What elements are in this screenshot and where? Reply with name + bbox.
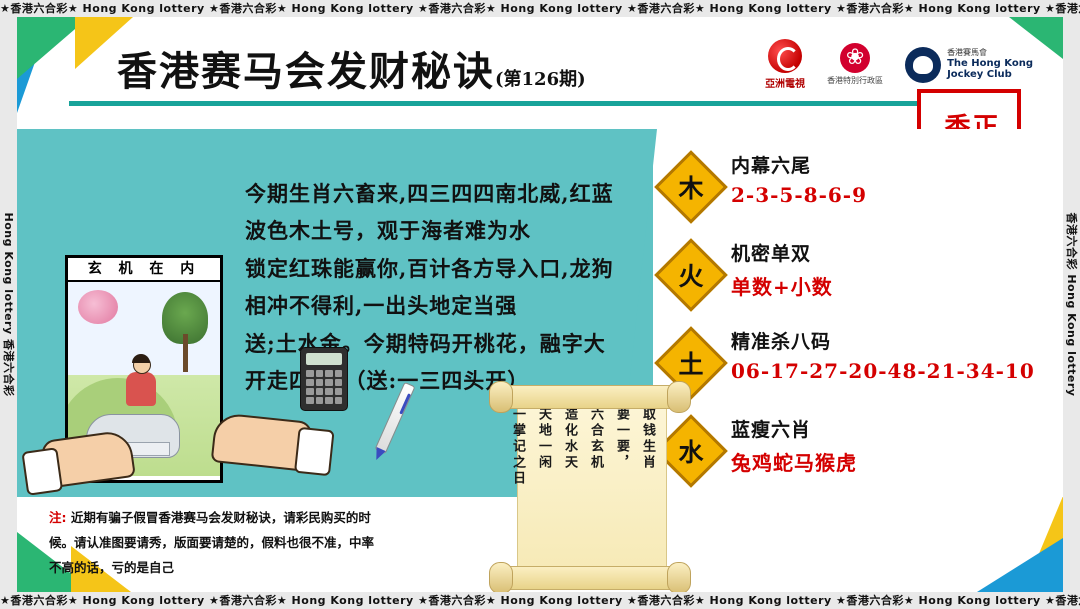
page-title: 香港赛马会发财秘诀(第126期)	[117, 39, 586, 97]
bauhinia-icon	[840, 43, 870, 73]
scroll-knob-bottom-right	[667, 562, 691, 592]
prediction-title-3: 精准杀八码	[731, 327, 831, 354]
poster-page: ★香港六合彩★ Hong Kong lottery ★香港六合彩★ Hong K…	[0, 0, 1080, 609]
element-badge-wood: 木	[654, 150, 728, 224]
prediction-item-3: 土 精准杀八码 06-17-27-20-48-21-34-10	[665, 321, 1063, 409]
art-blossom-tree-icon	[78, 290, 118, 324]
issue-number: (第126期)	[495, 69, 586, 90]
marquee-top: ★香港六合彩★ Hong Kong lottery ★香港六合彩★ Hong K…	[0, 0, 1080, 17]
element-badge-fire: 火	[654, 238, 728, 312]
decor-triangle-blue-bottomright	[977, 538, 1063, 592]
prediction-value-4: 兔鸡蛇马猴虎	[731, 447, 857, 476]
disclaimer-note: 注: 近期有骗子假冒香港赛马会发财秘诀，请彩民购买的时 候。请认准图要请秀，版面…	[49, 505, 479, 580]
disclaimer-line-3: 不高的话，亏的是自己	[49, 555, 479, 580]
prediction-item-4: 水 蓝瘦六肖 兔鸡蛇马猴虎	[665, 409, 1063, 497]
prediction-value-1: 2-3-5-8-6-9	[731, 183, 867, 207]
prediction-value-2: 单数+小数	[731, 271, 833, 300]
poster-header: 香港赛马会发财秘诀(第126期) 亞洲電視 香港特別行政區 香港賽馬會 The …	[17, 17, 1063, 109]
scroll-col-3: 六合玄机	[586, 407, 605, 571]
prediction-title-2: 机密单双	[731, 239, 811, 266]
disclaimer-label: 注:	[49, 510, 67, 525]
marquee-bottom: ★香港六合彩★ Hong Kong lottery ★香港六合彩★ Hong K…	[0, 592, 1080, 609]
scroll-col-2: 要一要，	[612, 407, 631, 571]
header-logos: 亞洲電視 香港特別行政區 香港賽馬會 The Hong Kong Jockey …	[765, 39, 1033, 90]
hk-logo-caption: 香港特別行政區	[827, 75, 883, 86]
jockey-club-horse-icon	[905, 47, 941, 83]
calculator-screen	[306, 353, 342, 365]
art-figure-body	[126, 372, 156, 406]
atv-logo-caption: 亞洲電視	[765, 75, 805, 90]
element-badge-earth-label: 土	[668, 340, 714, 386]
prediction-item-1: 木 内幕六尾 2-3-5-8-6-9	[665, 145, 1063, 233]
marquee-left-text: Hong Kong lottery 香港六合彩	[0, 17, 17, 592]
atv-logo: 亞洲電視	[765, 39, 805, 90]
verse-line-4: 相冲不得利,一出头地定当强	[245, 287, 665, 324]
marquee-bottom-text: ★香港六合彩★ Hong Kong lottery ★香港六合彩★ Hong K…	[0, 594, 1080, 607]
prediction-value-3: 06-17-27-20-48-21-34-10	[731, 359, 1035, 383]
prediction-item-2: 火 机密单双 单数+小数	[665, 233, 1063, 321]
verse-line-3: 锁定红珠能赢你,百计各方导入口,龙狗	[245, 250, 665, 287]
disclaimer-line-2: 候。请认准图要请秀，版面要请楚的，假料也很不准，中率	[49, 530, 479, 555]
cuff-left	[21, 447, 63, 496]
scroll-roller-bottom	[495, 566, 685, 590]
jockey-club-cn: 香港賽馬會	[947, 48, 1033, 57]
scroll-col-4: 造化水天	[560, 407, 579, 571]
scroll-col-1: 取钱生肖	[638, 407, 657, 571]
poster-canvas: 香港赛马会发财秘诀(第126期) 亞洲電視 香港特別行政區 香港賽馬會 The …	[17, 17, 1063, 592]
predictions-list: 木 内幕六尾 2-3-5-8-6-9 火 机密单双 单数+小数 土 精准杀八码 …	[665, 145, 1063, 497]
scroll-knob-top-right	[667, 381, 691, 413]
scroll-text: 取钱生肖 要一要， 六合玄机 造化水天 天地一闲 一掌记之日	[527, 407, 657, 571]
element-badge-fire-label: 火	[668, 252, 714, 298]
art-figure-icon	[124, 356, 158, 412]
atv-mark-icon	[768, 39, 802, 73]
disclaimer-line-1: 近期有骗子假冒香港赛马会发财秘诀，请彩民购买的时	[71, 510, 371, 525]
page-title-text: 香港赛马会发财秘诀	[117, 48, 495, 95]
marquee-right-text: 香港六合彩 Hong Kong lottery	[1063, 17, 1080, 592]
scroll-knob-bottom-left	[489, 562, 513, 592]
hk-bauhinia-logo: 香港特別行政區	[827, 43, 883, 86]
element-badge-wood-label: 木	[668, 164, 714, 210]
cuff-right	[294, 427, 335, 477]
jockey-club-logo: 香港賽馬會 The Hong Kong Jockey Club	[905, 47, 1033, 83]
verse-line-1: 今期生肖六畜来,四三四四南北威,红蓝	[245, 175, 665, 212]
prediction-title-4: 蓝瘦六肖	[731, 415, 811, 442]
illustration-caption: 玄 机 在 内	[68, 258, 220, 282]
prediction-title-1: 内幕六尾	[731, 151, 811, 178]
scroll-graphic: 取钱生肖 要一要， 六合玄机 造化水天 天地一闲 一掌记之日	[495, 385, 685, 590]
marquee-left: Hong Kong lottery 香港六合彩	[0, 17, 17, 592]
calculator-icon	[300, 347, 348, 411]
scroll-knob-top-left	[489, 381, 513, 413]
marquee-top-text: ★香港六合彩★ Hong Kong lottery ★香港六合彩★ Hong K…	[0, 2, 1080, 15]
marquee-right: 香港六合彩 Hong Kong lottery	[1063, 17, 1080, 592]
calculator-keys	[306, 370, 342, 404]
header-divider	[69, 101, 1015, 106]
hand-right-icon	[211, 412, 314, 472]
verse-line-2: 波色木土号，观于海者难为水	[245, 212, 665, 249]
art-tree-trunk	[183, 334, 188, 372]
art-figure-hair	[132, 354, 150, 363]
jockey-club-en1: The Hong Kong	[947, 58, 1033, 70]
jockey-club-en2: Jockey Club	[947, 69, 1033, 81]
scroll-col-5: 天地一闲	[534, 407, 553, 571]
scroll-col-6: 一掌记之日	[508, 407, 527, 571]
scroll-roller-top	[495, 385, 685, 409]
